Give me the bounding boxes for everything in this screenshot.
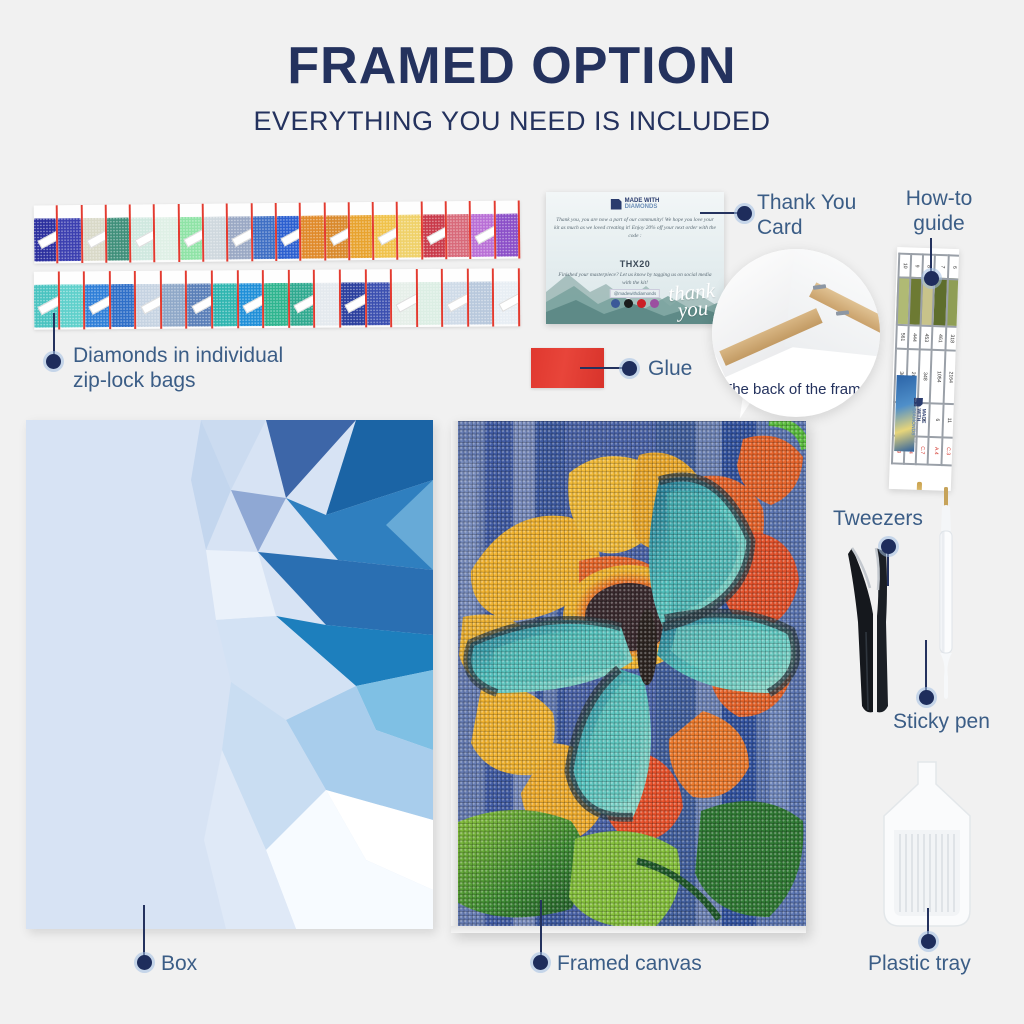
callout-dot-diamonds[interactable] bbox=[46, 354, 61, 369]
color-chart-cell: A.4 bbox=[928, 436, 941, 465]
zip-lock-bag bbox=[277, 203, 302, 261]
leader-box bbox=[143, 905, 145, 957]
leader-framed-canvas bbox=[540, 900, 542, 957]
color-chart-cell bbox=[909, 278, 923, 326]
zip-lock-bag bbox=[238, 270, 264, 328]
zip-lock-bag bbox=[398, 201, 423, 259]
zip-lock-bag bbox=[447, 201, 472, 259]
zip-lock-bag bbox=[290, 270, 316, 328]
diamond-beads bbox=[301, 215, 324, 259]
card-script-line2: you bbox=[677, 296, 709, 323]
canvas-left-edge bbox=[451, 421, 458, 933]
diamond-prism-logo-icon bbox=[611, 199, 622, 210]
diamond-drill-texture bbox=[451, 421, 806, 933]
frame-back-caption: The back of the frame bbox=[712, 380, 880, 399]
diamond-beads bbox=[350, 215, 373, 259]
zip-lock-bag bbox=[136, 271, 162, 329]
zip-lock-bag bbox=[471, 201, 496, 259]
zip-lock-bag bbox=[417, 269, 443, 327]
color-chart-cell: 9 bbox=[910, 254, 923, 278]
callout-dot-framed-canvas[interactable] bbox=[533, 955, 548, 970]
diamond-beads bbox=[155, 217, 178, 261]
callout-dot-box[interactable] bbox=[137, 955, 152, 970]
diamond-beads bbox=[469, 281, 493, 325]
zip-lock-bag bbox=[422, 201, 447, 259]
diamond-beads bbox=[418, 282, 442, 326]
canvas-bottom-edge bbox=[451, 926, 806, 933]
card-body-top: Thank you, you are now a part of our com… bbox=[554, 216, 716, 240]
card-brand-logo: MADE WITH DIAMONDS bbox=[611, 198, 660, 210]
diamond-beads bbox=[204, 216, 227, 260]
box-polygon-artwork bbox=[26, 420, 433, 929]
zip-lock-bag bbox=[162, 271, 188, 329]
card-handle-text: @madewithdiamonds bbox=[614, 291, 656, 296]
color-chart-cell: 6 bbox=[947, 255, 959, 279]
diamond-beads bbox=[253, 216, 276, 260]
color-chart-cell: 4 bbox=[954, 404, 959, 438]
zip-lock-bag bbox=[187, 270, 213, 328]
zip-lock-bag bbox=[204, 204, 229, 262]
zip-lock-bag bbox=[374, 202, 399, 260]
tweezers-tool bbox=[846, 536, 902, 716]
color-chart-cell: 561 bbox=[896, 325, 909, 350]
callout-dot-how-to-guide[interactable] bbox=[924, 271, 939, 286]
instagram-icon bbox=[650, 299, 659, 308]
diamond-beads bbox=[162, 283, 186, 327]
color-chart-cell: C.7 bbox=[916, 436, 929, 465]
product-box: MADE WITH DIAMONDS bbox=[26, 420, 433, 929]
diamond-beads bbox=[447, 214, 470, 258]
callout-label-diamonds: Diamonds in individual zip-lock bags bbox=[73, 343, 283, 393]
color-chart-cell bbox=[933, 279, 947, 327]
color-chart-cell: 1054 bbox=[930, 350, 944, 403]
zip-lock-bag bbox=[252, 203, 277, 261]
callout-dot-thank-you-card[interactable] bbox=[737, 206, 752, 221]
callout-label-glue: Glue bbox=[648, 356, 692, 381]
callout-label-framed-canvas: Framed canvas bbox=[557, 951, 702, 976]
color-chart-cell: 653 bbox=[955, 351, 959, 404]
diamond-beads bbox=[315, 282, 339, 326]
zip-lock-bag bbox=[34, 205, 59, 263]
zip-lock-bag bbox=[85, 271, 111, 329]
color-chart-cell: 11 bbox=[942, 403, 955, 437]
tiktok-icon bbox=[624, 299, 633, 308]
color-chart-cell: C.3 bbox=[941, 437, 954, 466]
color-chart-cell bbox=[945, 279, 959, 327]
color-chart-cell: 461 bbox=[932, 326, 945, 351]
diamond-beads bbox=[366, 282, 390, 326]
callout-label-sticky-pen: Sticky pen bbox=[893, 709, 990, 734]
page-subtitle: EVERYTHING YOU NEED IS INCLUDED bbox=[0, 106, 1024, 137]
diamond-beads bbox=[58, 218, 81, 262]
color-chart-cell: 444 bbox=[908, 325, 921, 350]
zip-lock-bag bbox=[494, 268, 520, 326]
card-brand-text: MADE WITH DIAMONDS bbox=[625, 198, 660, 210]
zip-lock-bag bbox=[155, 204, 180, 262]
leader-diamonds bbox=[53, 313, 55, 355]
guide-pin-icon bbox=[916, 482, 922, 491]
zip-lock-bag bbox=[392, 269, 418, 327]
leader-sticky-pen bbox=[925, 640, 927, 692]
zip-lock-bag bbox=[58, 205, 83, 263]
zip-lock-bag bbox=[34, 272, 60, 330]
leader-glue bbox=[580, 367, 628, 369]
zip-lock-bag bbox=[228, 203, 253, 261]
callout-label-box: Box bbox=[161, 951, 197, 976]
color-chart-cell: 453 bbox=[920, 325, 933, 350]
color-chart-cell: 400 bbox=[957, 327, 959, 352]
color-chart-cell: B.11 bbox=[953, 437, 959, 466]
frame-back-callout-bubble: The back of the frame bbox=[712, 249, 880, 417]
zip-lock-bag bbox=[264, 270, 290, 328]
zip-lock-bag-strip-top bbox=[34, 200, 521, 263]
color-chart-cell: 2164 bbox=[943, 351, 957, 404]
callout-label-thank-you-card: Thank You Card bbox=[757, 190, 856, 240]
zip-lock-bag bbox=[301, 202, 326, 260]
callout-dot-tweezers[interactable] bbox=[881, 539, 896, 554]
color-chart-table-wrap: No.SymbolIDQuantityBagsBCI 116810345B.12… bbox=[889, 250, 959, 364]
zip-lock-bag bbox=[213, 270, 239, 328]
page-title: FRAMED OPTION bbox=[0, 36, 1024, 96]
color-chart-cell bbox=[896, 277, 910, 325]
zip-lock-bag bbox=[82, 205, 107, 263]
diamond-beads bbox=[264, 283, 288, 327]
diamond-beads bbox=[495, 213, 518, 257]
zip-lock-bag bbox=[325, 202, 350, 260]
zip-lock-bag bbox=[366, 269, 392, 327]
diamond-beads bbox=[398, 214, 421, 258]
color-chart-cell: 348 bbox=[918, 350, 932, 403]
card-social-handle: @madewithdiamonds bbox=[610, 289, 660, 298]
framed-canvas bbox=[451, 421, 806, 933]
card-social-icons bbox=[611, 299, 659, 308]
diamond-beads bbox=[107, 217, 130, 261]
callout-dot-sticky-pen[interactable] bbox=[919, 690, 934, 705]
zip-lock-bag bbox=[107, 205, 132, 263]
diamond-beads bbox=[213, 283, 237, 327]
zip-lock-bag bbox=[495, 200, 520, 258]
card-discount-code: THX20 bbox=[546, 259, 724, 269]
leader-tweezers bbox=[887, 552, 889, 586]
pinterest-icon bbox=[637, 299, 646, 308]
callout-label-plastic-tray: Plastic tray bbox=[868, 951, 971, 976]
zip-lock-bag-strip-bottom bbox=[34, 268, 520, 329]
callout-label-how-to-guide: How-to guide bbox=[893, 186, 985, 236]
facebook-icon bbox=[611, 299, 620, 308]
color-chart-cell: 10 bbox=[898, 254, 911, 278]
plastic-tray-tool bbox=[874, 760, 982, 932]
diamond-beads bbox=[59, 284, 83, 328]
callout-label-tweezers: Tweezers bbox=[833, 506, 923, 531]
zip-lock-bag bbox=[179, 204, 204, 262]
thank-you-card: MADE WITH DIAMONDS Thank you, you are no… bbox=[546, 192, 724, 324]
callout-dot-glue[interactable] bbox=[622, 361, 637, 376]
sticky-pen-tool bbox=[932, 487, 960, 702]
how-to-guide-booklet: No.SymbolIDQuantityBagsBCI 116810345B.12… bbox=[889, 247, 959, 491]
color-chart-cell: 318 bbox=[945, 326, 958, 351]
zip-lock-bag bbox=[469, 268, 495, 326]
zip-lock-bag bbox=[315, 270, 341, 328]
zip-lock-bag bbox=[131, 204, 156, 262]
color-chart-cell bbox=[958, 279, 959, 327]
zip-lock-bag bbox=[59, 271, 85, 329]
card-brand-line2: DIAMONDS bbox=[625, 204, 658, 210]
infographic-page: FRAMED OPTION EVERYTHING YOU NEED IS INC… bbox=[0, 0, 1024, 1024]
color-chart-cell: 6 bbox=[929, 403, 942, 437]
zip-lock-bag bbox=[341, 269, 367, 327]
callout-dot-plastic-tray[interactable] bbox=[921, 934, 936, 949]
zip-lock-bag bbox=[443, 269, 469, 327]
diamond-beads bbox=[111, 284, 135, 328]
zip-lock-bag bbox=[111, 271, 137, 329]
card-script-thankyou: thank you bbox=[668, 282, 717, 320]
zip-lock-bag bbox=[350, 202, 375, 260]
